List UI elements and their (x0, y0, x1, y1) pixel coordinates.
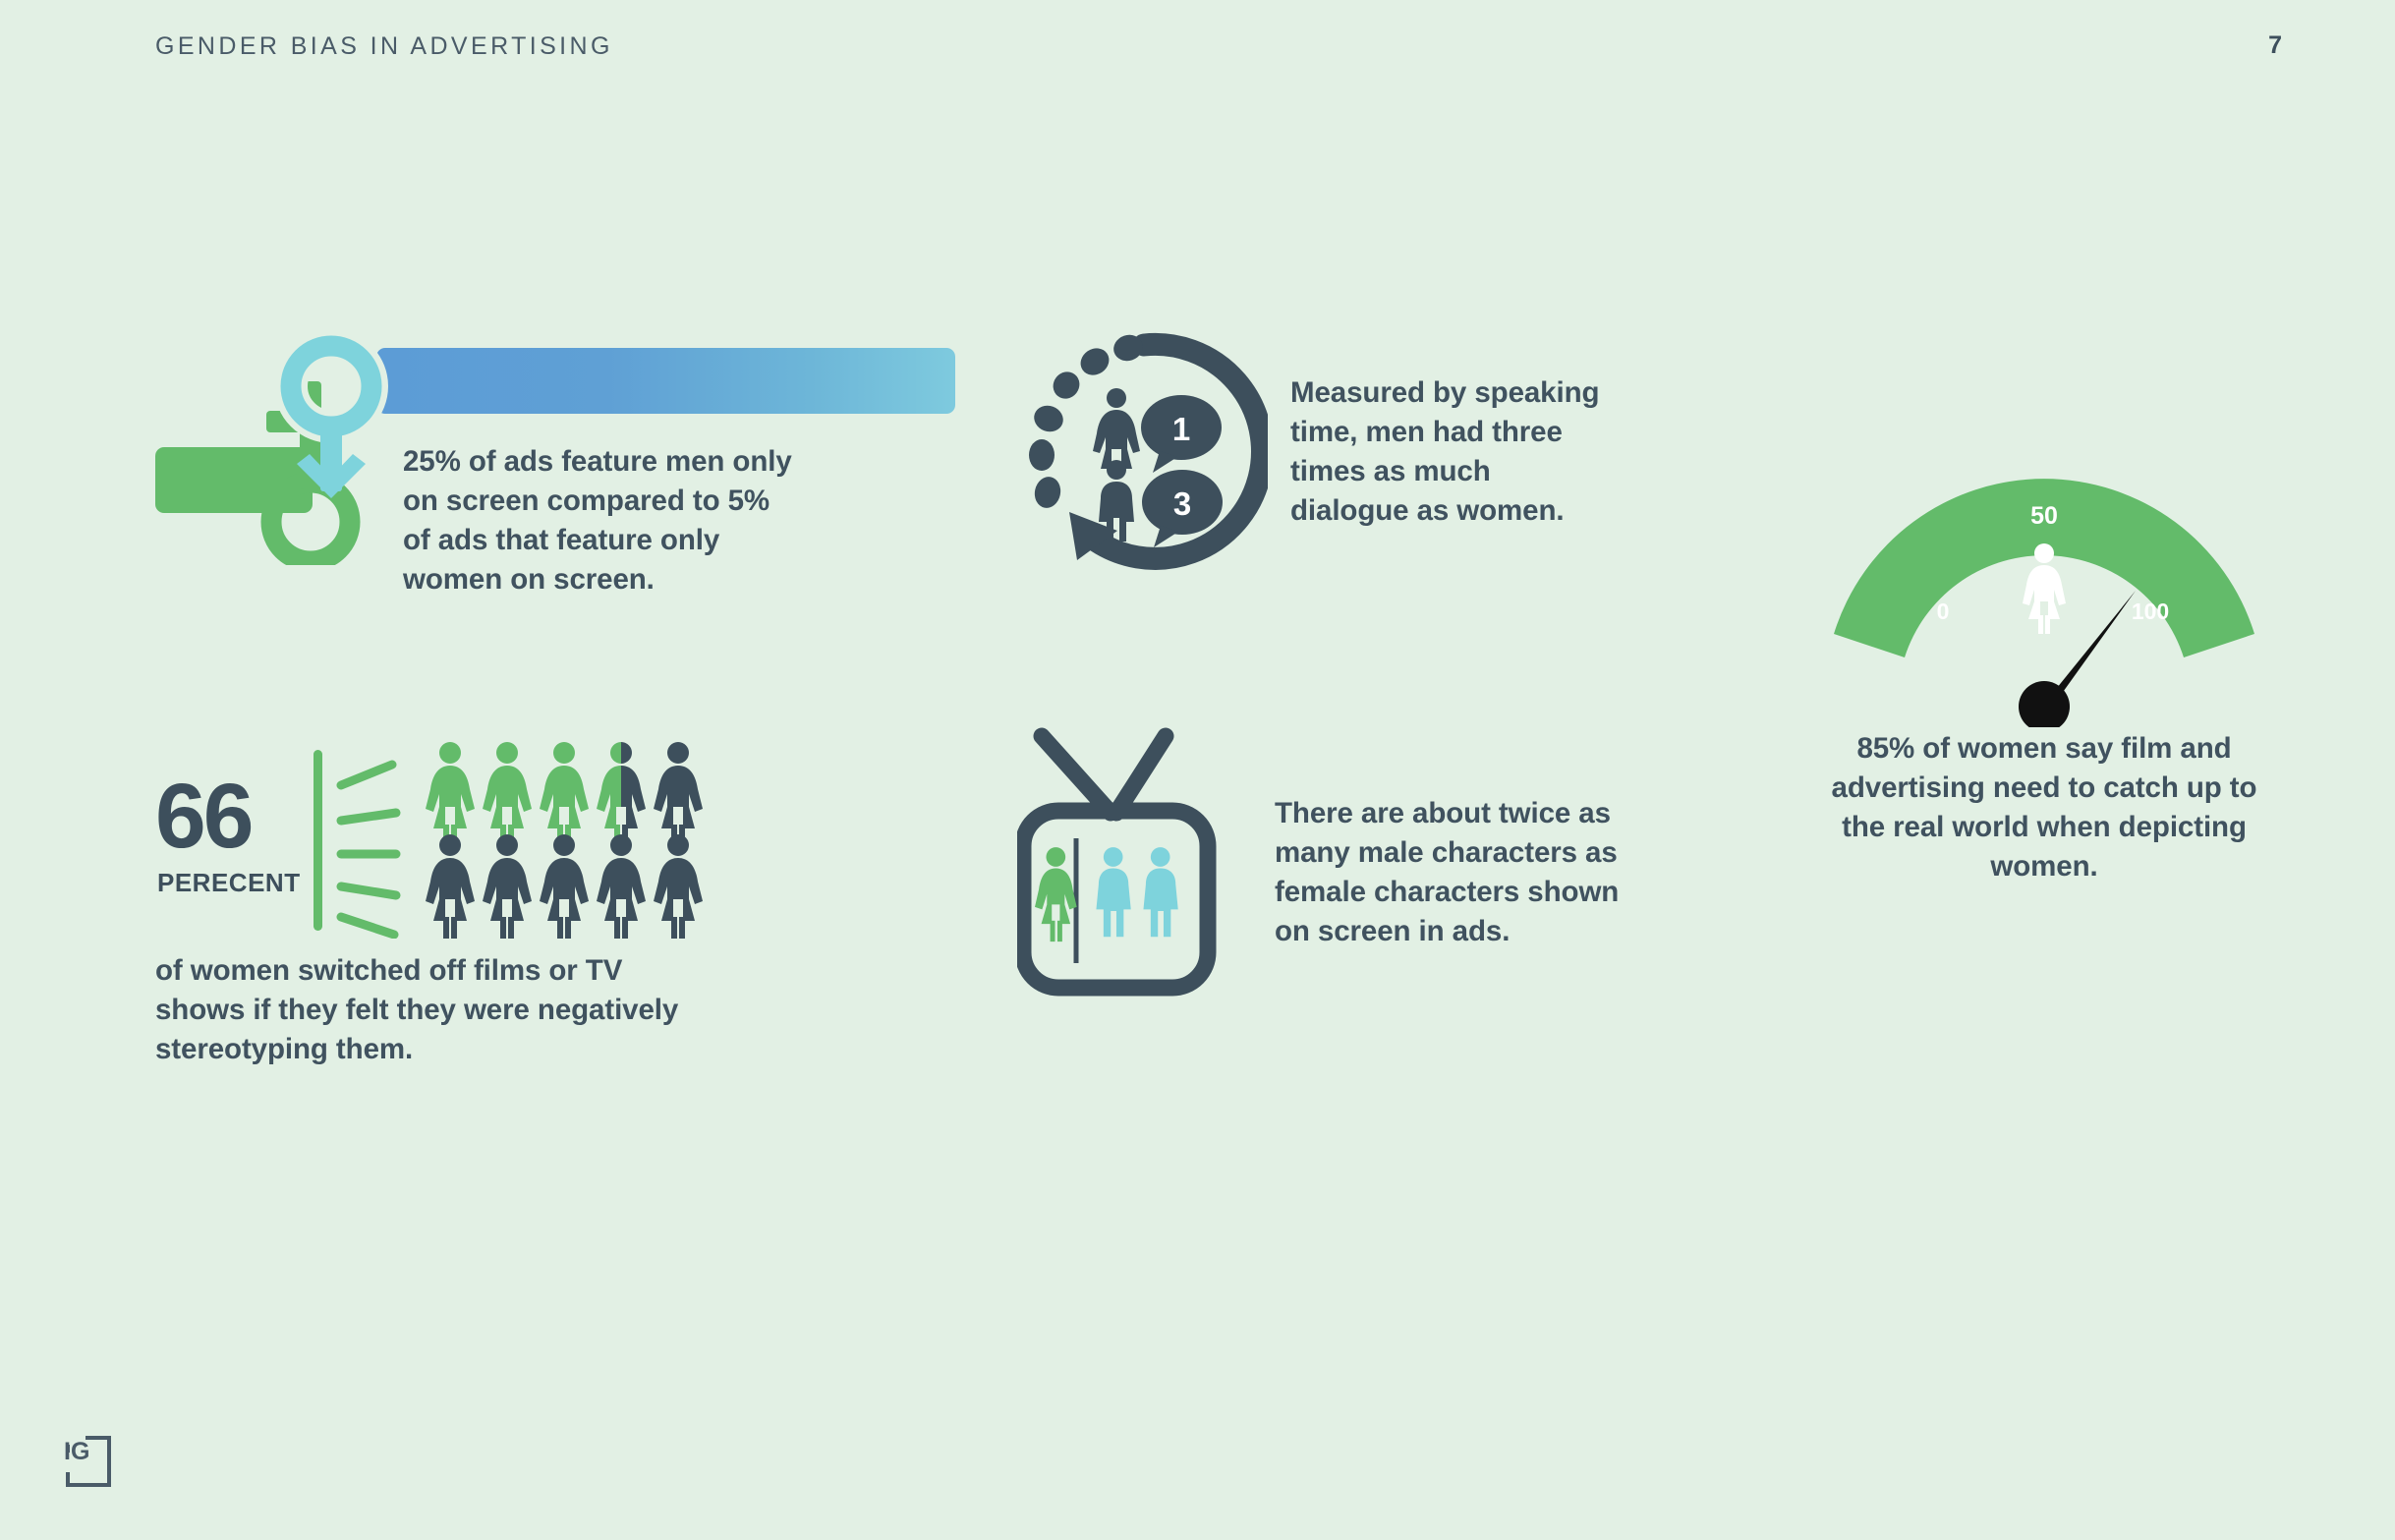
icon-person-10 (654, 834, 703, 939)
icon-person-6 (426, 834, 475, 939)
gauge-caption: 85% of women say film and advertising ne… (1808, 729, 2280, 886)
dialogue-value-female: 1 (1172, 411, 1190, 447)
tv-caption: There are about twice as many male chara… (1275, 794, 1638, 951)
stat-block-tv: There are about twice as many male chara… (1017, 722, 1626, 1007)
icon-person-1 (426, 742, 475, 848)
dialogue-value-male: 3 (1173, 485, 1191, 522)
icon-person-3 (540, 742, 589, 848)
brand-logo: IG (56, 1433, 115, 1492)
bar-men-only (376, 348, 955, 414)
page-number: 7 (2268, 31, 2282, 60)
icon-person-8 (540, 834, 589, 939)
tv-male-icon-2 (1143, 847, 1177, 937)
stat-block-66-percent: 66 PERECENT (155, 742, 765, 1076)
dialogue-circle-svg: 1 3 (1022, 329, 1268, 575)
icon-person-7 (483, 834, 532, 939)
percent-label: PERECENT (157, 868, 301, 898)
people-icon-array (421, 742, 715, 939)
ig-logo-icon: IG (56, 1433, 115, 1492)
slide-canvas: GENDER BIAS IN ADVERTISING 7 (0, 0, 2395, 1540)
big-number-66: 66 (155, 764, 251, 869)
ray-lines (341, 765, 396, 935)
symbols-caption: 25% of ads feature men only on screen co… (403, 442, 796, 599)
stat-block-gauge: 0 50 100 85% of women say film and adver… (1818, 432, 2270, 855)
speech-bubble-female: 1 (1141, 395, 1222, 473)
gauge-svg: 0 50 100 (1818, 432, 2270, 727)
icon-person-9 (597, 834, 646, 939)
tv-female-icon (1035, 847, 1077, 941)
icon-person-2 (483, 742, 532, 848)
page-title: GENDER BIAS IN ADVERTISING (155, 32, 613, 61)
rays-icon (308, 742, 416, 939)
icon-person-4-half (597, 742, 646, 848)
icon-person-5 (654, 742, 703, 848)
rays-stem (314, 750, 322, 931)
female-figure-icon (1093, 388, 1140, 469)
tv-male-icon-1 (1096, 847, 1130, 937)
percent66-caption: of women switched off films or TV shows … (155, 951, 706, 1069)
tv-svg (1017, 722, 1263, 1007)
stat-block-dialogue: 1 3 Measured by speaking time, men had t… (1022, 329, 1631, 575)
gauge-female-icon (2023, 543, 2066, 634)
stat-block-gender-symbols: 25% of ads feature men only on screen co… (155, 339, 824, 604)
gauge-tick-50: 50 (2030, 502, 2058, 530)
gauge-tick-0: 0 (1937, 599, 1950, 624)
dialogue-caption: Measured by speaking time, men had three… (1290, 373, 1605, 531)
logo-text: IG (64, 1438, 89, 1465)
tv-antenna-icon (1042, 736, 1166, 813)
gauge-tick-100: 100 (2132, 599, 2169, 624)
